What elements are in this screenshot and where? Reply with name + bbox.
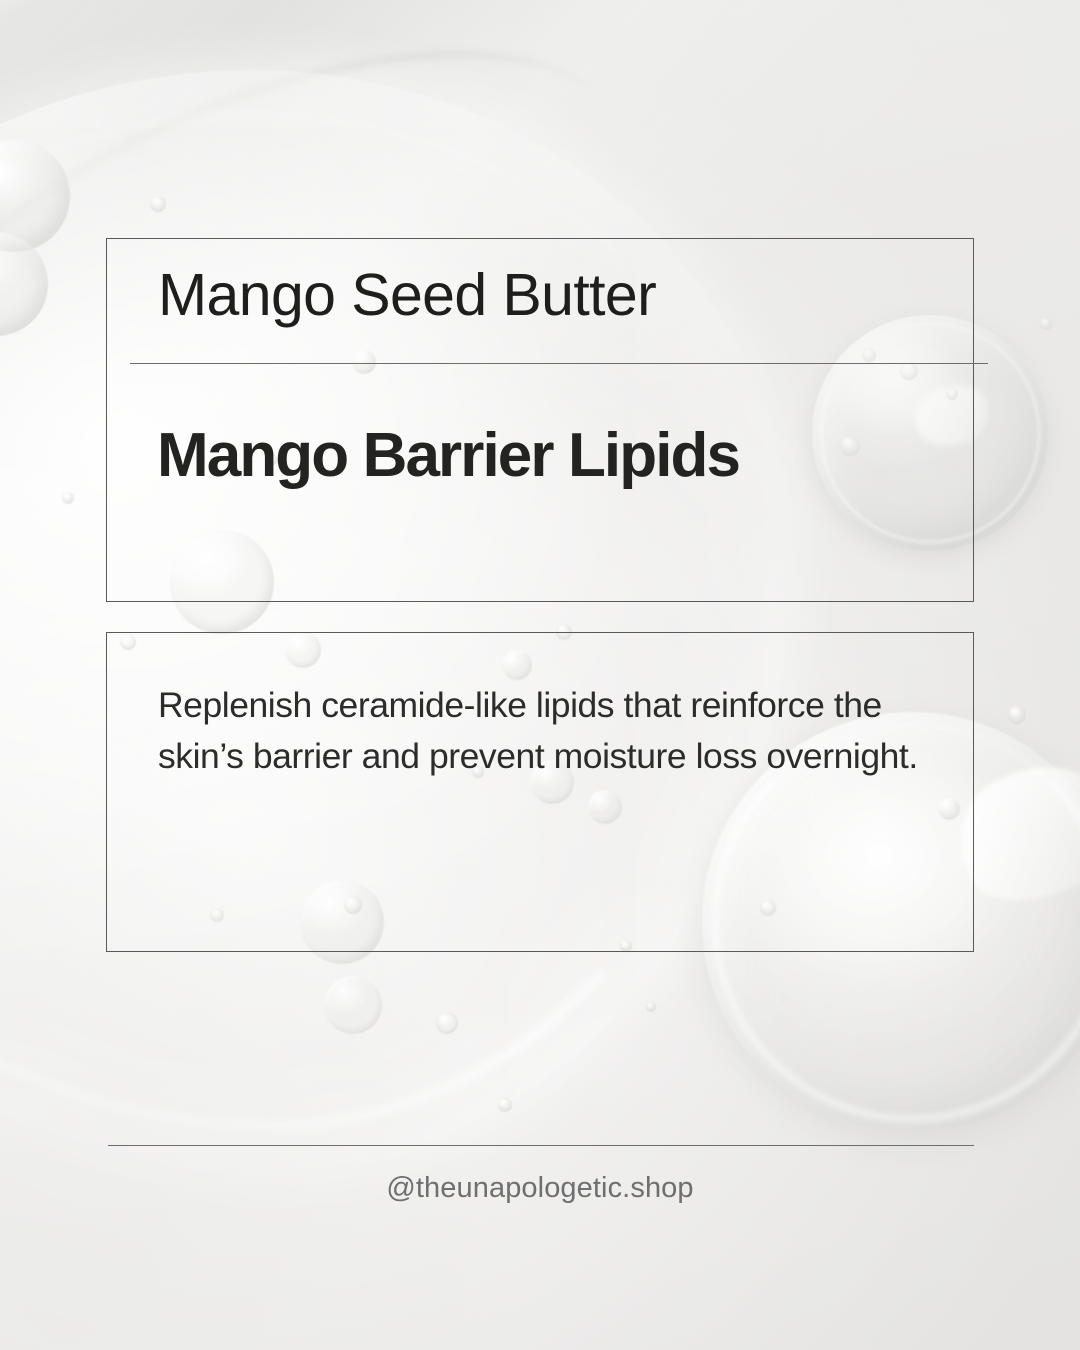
brand-handle: @theunapologetic.shop bbox=[0, 1172, 1080, 1205]
footer-divider-rule bbox=[108, 1145, 974, 1146]
body-description: Replenish ceramide-like lipids that rein… bbox=[158, 680, 918, 782]
card-content: Mango Seed Butter Mango Barrier Lipids R… bbox=[0, 0, 1080, 1350]
title-divider-rule bbox=[130, 363, 988, 364]
ingredient-eyebrow: Mango Seed Butter bbox=[158, 265, 948, 326]
social-card: Mango Seed Butter Mango Barrier Lipids R… bbox=[0, 0, 1080, 1350]
page-title: Mango Barrier Lipids bbox=[157, 424, 957, 488]
